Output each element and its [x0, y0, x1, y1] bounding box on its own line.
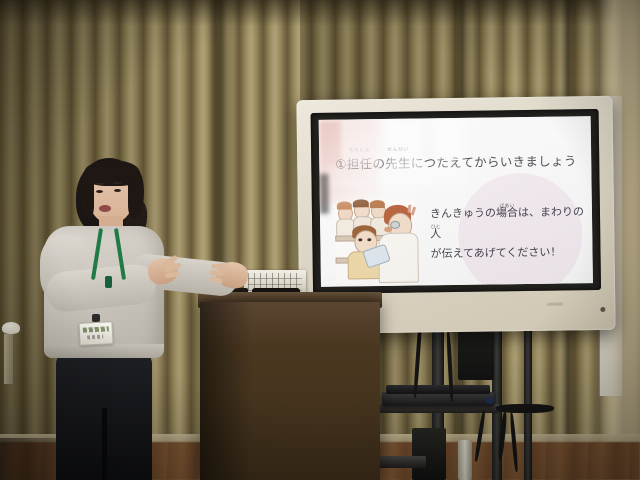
presenter-eyebrow	[113, 182, 122, 184]
lanyard-clip	[105, 276, 112, 288]
sweatshirt-hem	[44, 344, 164, 358]
presenter-eye	[96, 190, 103, 193]
presenter-eye	[114, 189, 121, 192]
finger	[211, 263, 225, 269]
presenter-bangs	[84, 160, 140, 186]
presenter-mouth	[99, 205, 111, 212]
presenter-eyebrow	[95, 183, 104, 185]
badge-text-line	[87, 335, 103, 340]
finger	[209, 270, 224, 276]
trouser-seam	[102, 408, 107, 480]
badge-text-line	[83, 326, 109, 332]
name-badge	[78, 321, 113, 346]
female-presenter	[0, 0, 640, 480]
photo-scene: ①たんにん担任のせんせい先生につたえてからいきましょう きんきゅうのばあい場合は…	[0, 0, 640, 480]
